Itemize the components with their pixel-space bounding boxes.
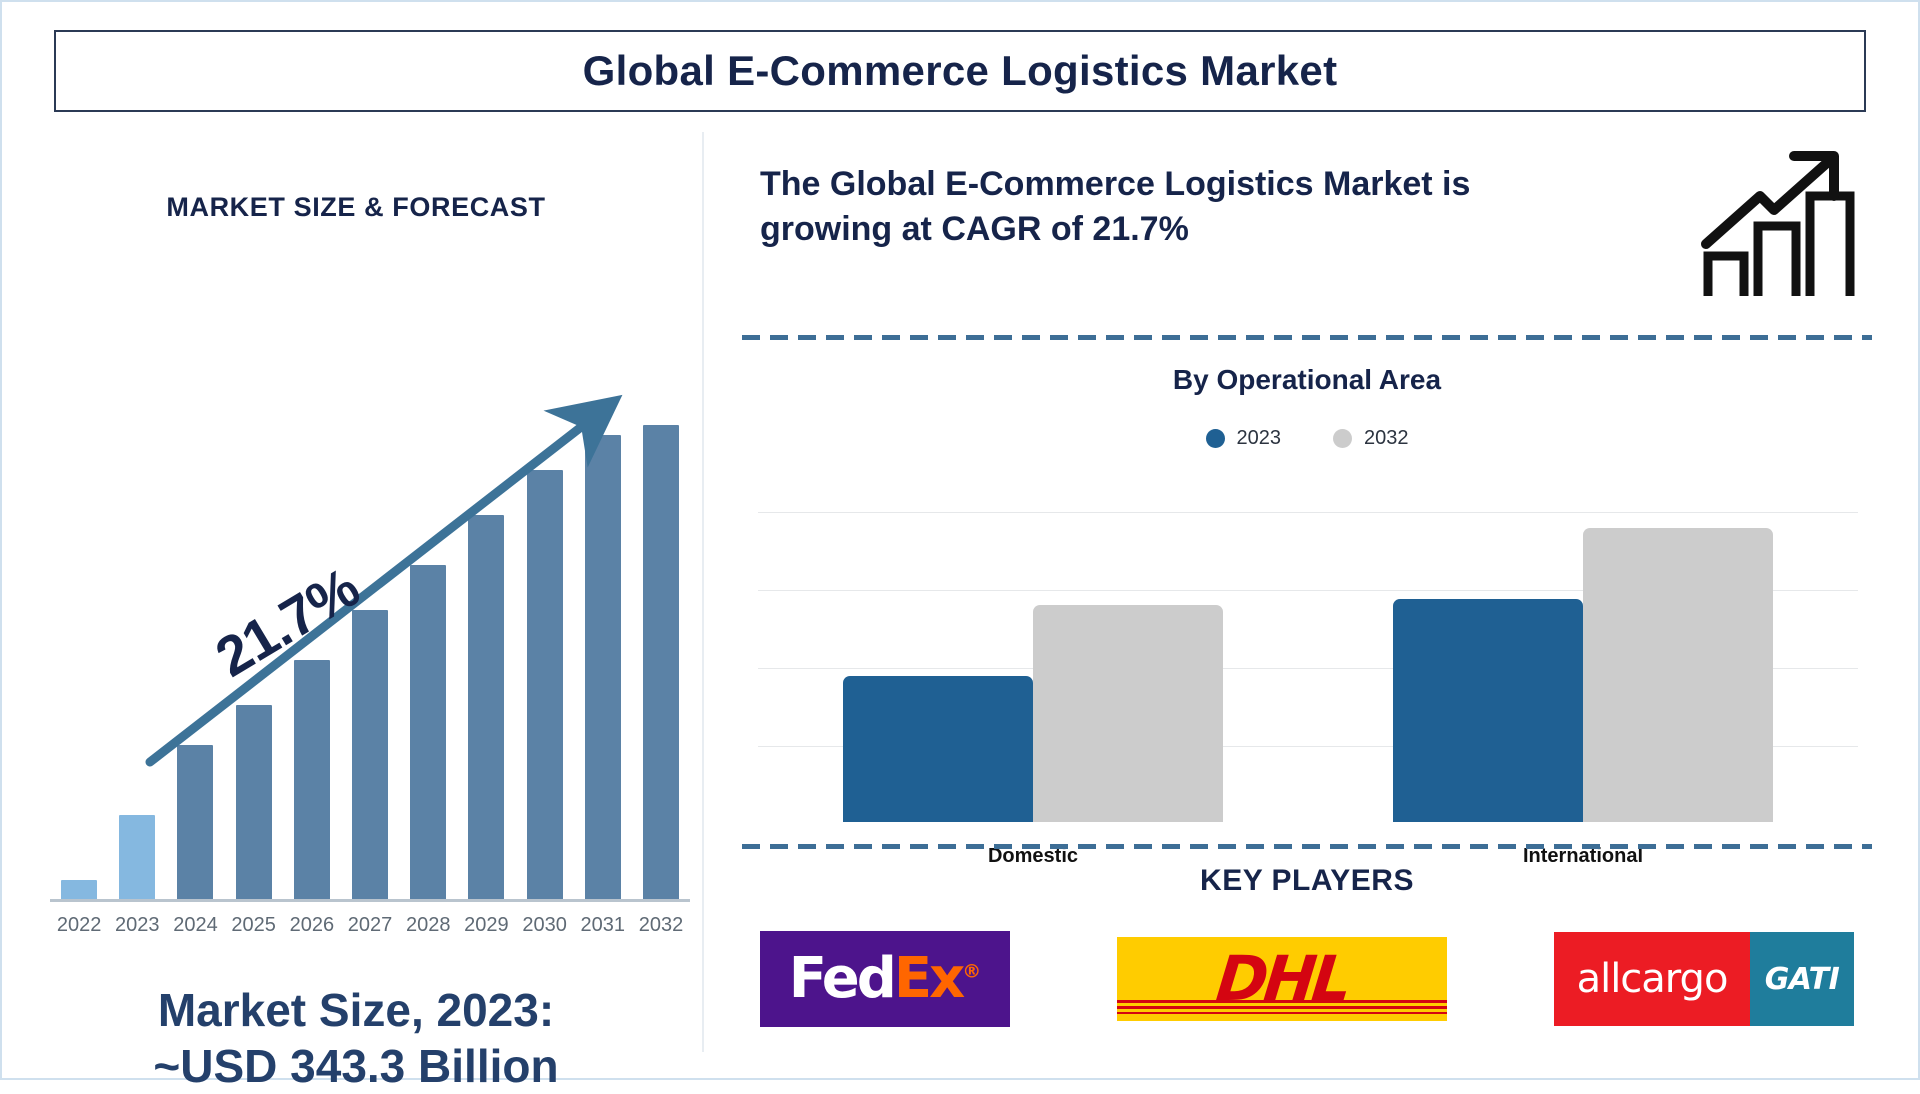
forecast-bar: [119, 815, 155, 900]
fedex-registered-mark: ®: [962, 960, 981, 982]
operational-area-bar: [1393, 599, 1583, 822]
market-size-line-1: Market Size, 2023:: [22, 982, 690, 1038]
legend-label: 2032: [1364, 427, 1409, 450]
forecast-axis-line: [50, 899, 690, 902]
forecast-year-label: 2028: [399, 914, 457, 937]
left-panel: MARKET SIZE & FORECAST 21.7% 20222023202…: [22, 132, 690, 1052]
operational-area-title: By Operational Area: [742, 364, 1872, 396]
fedex-logo: FedEx®: [760, 931, 1010, 1027]
forecast-bar-column: [341, 400, 399, 900]
allcargo-wordmark: allcargo: [1577, 956, 1728, 1002]
legend-dot-2023: [1206, 429, 1225, 448]
allcargo-block: allcargo: [1554, 932, 1750, 1026]
forecast-year-label: 2032: [632, 914, 690, 937]
legend-item[interactable]: 2032: [1333, 427, 1409, 450]
operational-area-group: [758, 512, 1308, 822]
forecast-bar: [177, 745, 213, 900]
forecast-bar-column: [574, 400, 632, 900]
page-title-box: Global E-Commerce Logistics Market: [54, 30, 1866, 112]
forecast-bar: [585, 435, 621, 900]
forecast-year-label: 2029: [457, 914, 515, 937]
forecast-bar: [61, 880, 97, 900]
market-size-forecast-chart: 21.7% 2022202320242025202620272028202920…: [32, 322, 692, 962]
forecast-bar-column: [457, 400, 515, 900]
operational-area-bar: [843, 676, 1033, 822]
forecast-bars: [50, 400, 690, 900]
forecast-bar-column: [50, 400, 108, 900]
forecast-bar-column: [632, 400, 690, 900]
operational-area-bar: [1033, 605, 1223, 822]
forecast-bar-column: [399, 400, 457, 900]
dhl-speed-lines: [1117, 1000, 1447, 1014]
forecast-year-label: 2024: [166, 914, 224, 937]
market-size-line-2: ~USD 343.3 Billion: [22, 1038, 690, 1094]
forecast-year-label: 2027: [341, 914, 399, 937]
operational-area-chart: DomesticInternational: [758, 472, 1858, 822]
fedex-wordmark: FedEx®: [789, 951, 981, 1007]
forecast-year-label: 2030: [516, 914, 574, 937]
operational-area-group: [1308, 512, 1858, 822]
dashed-divider-bottom: [742, 844, 1872, 849]
forecast-bar-column: [108, 400, 166, 900]
forecast-bar: [410, 565, 446, 900]
forecast-bar: [643, 425, 679, 900]
gati-block: GATI: [1750, 932, 1854, 1026]
forecast-bar: [468, 515, 504, 900]
market-size-forecast-heading: MARKET SIZE & FORECAST: [22, 192, 690, 223]
forecast-bar: [352, 610, 388, 900]
dashed-divider-top: [742, 335, 1872, 340]
forecast-year-label: 2026: [283, 914, 341, 937]
right-panel: The Global E-Commerce Logistics Market i…: [742, 142, 1872, 1052]
legend-item[interactable]: 2023: [1206, 427, 1282, 450]
forecast-bar: [294, 660, 330, 900]
key-players-logos: FedEx® DHL allcargo GATI: [742, 924, 1872, 1034]
operational-area-bar: [1583, 528, 1773, 823]
legend-dot-2032: [1333, 429, 1352, 448]
market-size-value: Market Size, 2023: ~USD 343.3 Billion: [22, 982, 690, 1094]
fedex-fed-text: Fed: [789, 946, 894, 1011]
forecast-year-label: 2031: [574, 914, 632, 937]
cagr-statement: The Global E-Commerce Logistics Market i…: [760, 162, 1560, 252]
forecast-bar: [527, 470, 563, 900]
forecast-year-label: 2023: [108, 914, 166, 937]
forecast-bar-column: [516, 400, 574, 900]
growth-arrow-bars-icon: [1700, 148, 1860, 298]
legend-label: 2023: [1237, 427, 1282, 450]
forecast-year-label: 2022: [50, 914, 108, 937]
operational-area-legend: 20232032: [742, 427, 1872, 450]
forecast-year-labels: 2022202320242025202620272028202920302031…: [50, 908, 690, 942]
forecast-year-label: 2025: [225, 914, 283, 937]
dhl-logo: DHL: [1117, 937, 1447, 1021]
forecast-bar: [236, 705, 272, 900]
fedex-ex-text: Ex: [894, 946, 962, 1011]
panel-divider: [702, 132, 704, 1052]
key-players-title: KEY PLAYERS: [742, 864, 1872, 898]
gati-wordmark: GATI: [1765, 962, 1840, 997]
page-title: Global E-Commerce Logistics Market: [583, 47, 1338, 95]
operational-area-bars: [758, 512, 1858, 822]
infographic-page: Global E-Commerce Logistics Market MARKE…: [0, 0, 1920, 1080]
allcargo-gati-logo: allcargo GATI: [1554, 932, 1854, 1026]
